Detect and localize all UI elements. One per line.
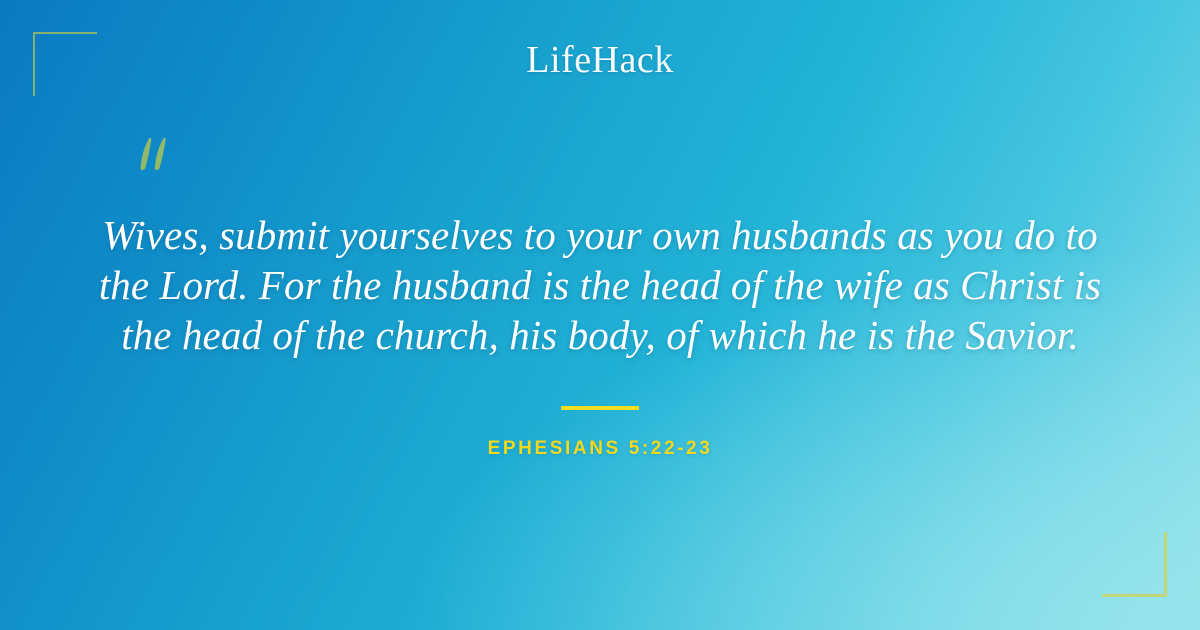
quote-line-2: the Lord. For the husband is the head of… [80,260,1120,310]
quote-body: Wives, submit yourselves to your own hus… [80,210,1120,360]
brand-logo: LifeHack [0,38,1200,82]
quote-card: LifeHack Wives, submit yourselves to you… [0,0,1200,630]
citation-reference: EPHESIANS 5:22-23 [0,438,1200,460]
quote-line-1: Wives, submit yourselves to your own hus… [80,210,1120,260]
quote-line-3: the head of the church, his body, of whi… [80,310,1120,360]
corner-bracket-bottom-right-icon [1102,532,1167,597]
citation-divider [561,406,639,410]
double-quote-icon [126,120,186,190]
